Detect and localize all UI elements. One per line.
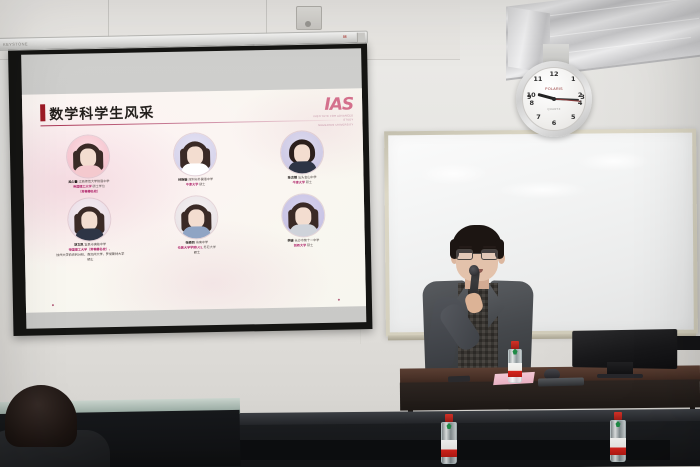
student-school: 长沙市第十一中学 bbox=[295, 238, 320, 242]
student-degree: 硕士 bbox=[307, 243, 313, 247]
seated-student-head bbox=[5, 385, 77, 447]
student-degree: 硕士学位 bbox=[92, 184, 104, 188]
student-university: 帝国理工大学 bbox=[73, 184, 92, 188]
student-photo-1 bbox=[67, 135, 110, 178]
student-degree: 硕士 bbox=[199, 182, 205, 186]
desktop-monitor[interactable] bbox=[569, 330, 675, 378]
housing-mark: M bbox=[343, 34, 347, 39]
housing-end-cap bbox=[357, 33, 365, 43]
student-photo-5 bbox=[175, 196, 218, 239]
student-school: 汕头金山中学 bbox=[298, 175, 317, 179]
clock-numeral: 1 bbox=[568, 76, 578, 83]
ias-logo-text: IAS bbox=[305, 96, 353, 114]
keyboard[interactable] bbox=[538, 377, 584, 386]
student-degree: 硕士 bbox=[306, 180, 312, 184]
student-extra: 苏尼大学 bbox=[203, 245, 215, 249]
presentation-slide: 数学科学生风采 IAS INSTITUTE FOR ADVANCED STUDY… bbox=[22, 88, 366, 312]
microphone-head-icon[interactable] bbox=[469, 265, 479, 276]
water-bottle[interactable] bbox=[610, 412, 626, 462]
student-name: 胡文凯 bbox=[74, 243, 83, 247]
water-bottle[interactable] bbox=[441, 414, 457, 464]
presentation-remote[interactable] bbox=[448, 376, 470, 383]
screen-surface: 数学科学生风采 IAS INSTITUTE FOR ADVANCED STUDY… bbox=[21, 48, 366, 328]
clock-numeral: 12 bbox=[549, 71, 559, 78]
student-card: 胡文凯 宜昌市夷陵中学 帝国理工大学（常春藤名校）、 加州大学伯克利分校、南加州… bbox=[38, 198, 142, 263]
student-university-line: 牛津大学 硕士 bbox=[293, 180, 313, 185]
clock-center-pin bbox=[552, 97, 556, 101]
student-name: 陈汶锶 bbox=[288, 175, 297, 179]
student-school: 深圳市外国语中学 bbox=[188, 177, 213, 181]
student-degree: 硕士 bbox=[87, 257, 93, 262]
student-card: 吴心蕾 江西师范大学附属中学 帝国理工大学 硕士学位 （常春藤名校） bbox=[37, 134, 141, 194]
clock-numeral: 7 bbox=[534, 114, 544, 121]
student-card: 陈汶锶 汕头金山中学 牛津大学 硕士 bbox=[250, 130, 354, 190]
housing-brand-label: KEYSTONE bbox=[3, 41, 28, 46]
eyebrow-left bbox=[459, 246, 472, 248]
student-university-line: 牛津大学 硕士 bbox=[186, 182, 206, 187]
ias-logo-subtitle-line1: INSTITUTE FOR ADVANCED STUDY bbox=[305, 114, 353, 123]
title-accent-bar bbox=[40, 104, 45, 121]
clock-numeral: 10 bbox=[526, 92, 536, 99]
wall-seam bbox=[108, 0, 109, 40]
clock-numeral: 11 bbox=[533, 76, 543, 83]
student-university: 牛津大学 bbox=[186, 182, 198, 186]
student-card: 张倚羽 海南中学 伦敦大学学院UCL 苏尼大学 硕士 bbox=[145, 196, 249, 261]
clock-numeral: 6 bbox=[549, 120, 559, 127]
student-showcase-grid: 吴心蕾 江西师范大学附属中学 帝国理工大学 硕士学位 （常春藤名校） bbox=[37, 130, 355, 263]
student-university: 剑桥大学 bbox=[294, 243, 306, 247]
student-photo-3 bbox=[280, 131, 323, 174]
student-name: 吴心蕾 bbox=[68, 180, 77, 184]
student-card: 李婕 长沙市第十一中学 剑桥大学 硕士 bbox=[251, 194, 355, 259]
classroom-photo-scene: KEYSTONE M 数学科学生风采 IAS INSTITUTE FOR ADV… bbox=[0, 0, 700, 467]
student-degree: 硕士 bbox=[194, 250, 200, 255]
eyebrow-right bbox=[483, 246, 496, 248]
student-university-line: 剑桥大学 硕士 bbox=[294, 243, 314, 248]
slide-bullet-dot bbox=[338, 299, 340, 301]
student-photo-6 bbox=[282, 194, 325, 237]
clock-face: 12 1 2 3 4 5 6 7 8 9 10 11 POLARIS QUART… bbox=[522, 67, 586, 131]
clock-numeral: 5 bbox=[568, 114, 578, 121]
water-bottle[interactable] bbox=[508, 341, 522, 383]
clock-sub-label: QUARTZ bbox=[547, 107, 560, 111]
clock-brand-label: POLARIS bbox=[545, 87, 563, 91]
student-name: 林晓璇 bbox=[178, 178, 187, 182]
glasses-icon bbox=[456, 249, 498, 260]
student-university: 牛津大学 bbox=[293, 180, 305, 184]
projector-screen[interactable]: 数学科学生风采 IAS INSTITUTE FOR ADVANCED STUDY… bbox=[8, 41, 372, 336]
monitor-base bbox=[597, 374, 643, 378]
student-extra: （常春藤名校） bbox=[78, 189, 100, 194]
student-university: 伦敦大学学院UCL bbox=[178, 245, 203, 249]
wall-speaker-icon bbox=[296, 6, 322, 30]
student-card: 林晓璇 深圳市外国语中学 牛津大学 硕士 bbox=[143, 132, 247, 192]
student-photo-4 bbox=[68, 198, 111, 241]
slide-title: 数学科学生风采 bbox=[49, 102, 154, 124]
wall-clock: 12 1 2 3 4 5 6 7 8 9 10 11 POLARIS QUART… bbox=[516, 61, 592, 137]
student-photo-2 bbox=[174, 133, 217, 176]
slide-bullet-dot bbox=[52, 304, 54, 306]
student-name: 李婕 bbox=[287, 239, 293, 243]
student-name: 张倚羽 bbox=[185, 241, 194, 245]
student-school: 海南中学 bbox=[196, 241, 208, 245]
ias-logo: IAS INSTITUTE FOR ADVANCED STUDY SHENZHE… bbox=[305, 96, 354, 127]
student-school: 江西师范大学附属中学 bbox=[79, 179, 110, 184]
